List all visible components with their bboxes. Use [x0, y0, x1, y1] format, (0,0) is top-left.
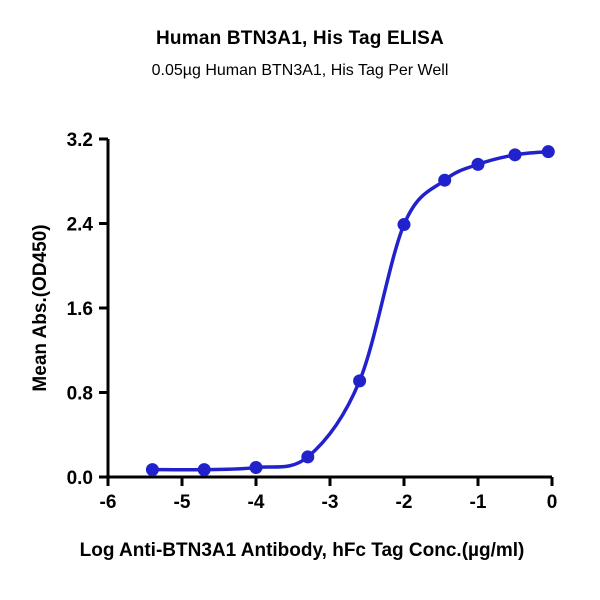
chart-page: Human BTN3A1, His Tag ELISA 0.05µg Human…	[0, 0, 600, 600]
x-tick-label: -5	[174, 492, 191, 513]
x-axis-title: Log Anti-BTN3A1 Antibody, hFc Tag Conc.(…	[80, 540, 525, 561]
data-point	[146, 463, 159, 476]
series-markers	[146, 145, 555, 476]
data-point	[542, 145, 555, 158]
x-tick-label: -4	[248, 492, 265, 513]
x-tick-label: -2	[396, 492, 413, 513]
y-tick-label: 0.8	[67, 384, 93, 405]
chart-plot: 0.0 0.8 1.6 2.4 3.2 -6 -5 -4 -3 -2 -1 0 …	[0, 0, 600, 600]
x-tick-label: 0	[547, 492, 558, 513]
data-point	[301, 450, 314, 463]
x-tick-label: -6	[100, 492, 117, 513]
y-tick-label: 1.6	[67, 299, 93, 320]
x-tick-label: -1	[470, 492, 487, 513]
x-axis-tick-labels: -6 -5 -4 -3 -2 -1 0	[100, 492, 558, 513]
y-tick-label: 0.0	[67, 468, 93, 489]
data-point	[509, 148, 522, 161]
y-tick-label: 3.2	[67, 130, 93, 151]
data-point	[398, 218, 411, 231]
series-line	[152, 152, 548, 470]
data-point	[250, 461, 263, 474]
data-point	[472, 158, 485, 171]
data-point	[198, 463, 211, 476]
data-point	[438, 174, 451, 187]
y-tick-label: 2.4	[67, 215, 94, 236]
x-tick-label: -3	[322, 492, 339, 513]
data-point	[353, 374, 366, 387]
y-axis-tick-labels: 0.0 0.8 1.6 2.4 3.2	[67, 130, 94, 489]
y-axis-title: Mean Abs.(OD450)	[30, 224, 51, 391]
